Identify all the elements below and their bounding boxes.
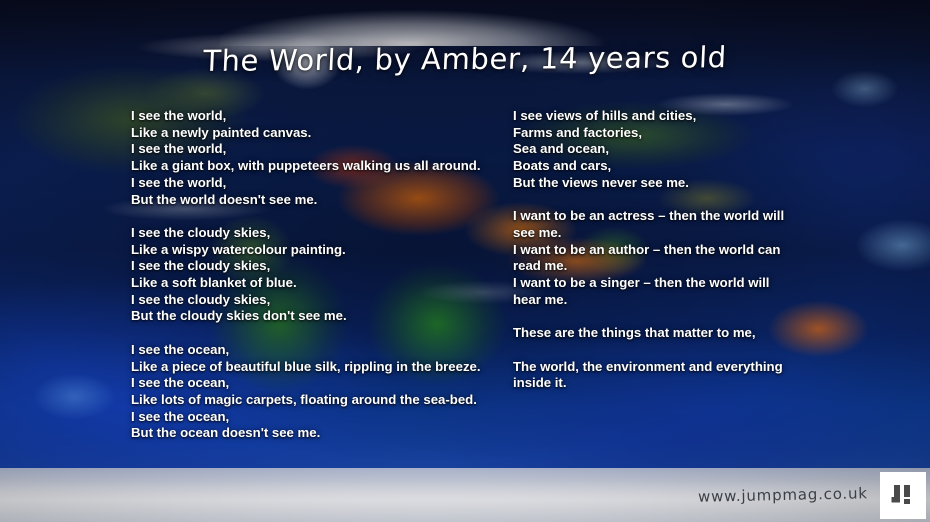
poem-line: Sea and ocean, [513,141,795,158]
poem-line: Farms and factories, [513,125,795,142]
poem-line: Like lots of magic carpets, floating aro… [131,392,501,409]
poem-stanza: I see the ocean,Like a piece of beautifu… [131,342,501,442]
poem-stanza: I see the world,Like a newly painted can… [131,108,501,208]
poem-line: I want to be an author – then the world … [513,242,795,275]
poem-line: Like a piece of beautiful blue silk, rip… [131,359,501,376]
poem-line: I see the ocean, [131,375,501,392]
page-title: The World, by Amber, 14 years old [0,39,930,79]
site-url-text[interactable]: www.jumpmag.co.uk [698,484,868,506]
poem-line: But the views never see me. [513,175,795,192]
poem-line: Like a giant box, with puppeteers walkin… [131,158,501,175]
poem-line: But the cloudy skies don't see me. [131,308,501,325]
poem-line: But the world doesn't see me. [131,192,501,209]
poem-line: These are the things that matter to me, [513,325,795,342]
poem-left-column: I see the world,Like a newly painted can… [131,108,501,442]
poem-line: I see the ocean, [131,342,501,359]
poem-stanza: These are the things that matter to me, [513,325,795,342]
slide-content: The World, by Amber, 14 years old I see … [0,0,930,522]
poem-line: The world, the environment and everythin… [513,359,795,392]
poem-slide: The World, by Amber, 14 years old I see … [0,0,930,522]
poem-line: I see the cloudy skies, [131,292,501,309]
poem-line: Like a newly painted canvas. [131,125,501,142]
poem-line: I see the cloudy skies, [131,258,501,275]
poem-line: I see the world, [131,175,501,192]
poem-line: I want to be a singer – then the world w… [513,275,795,308]
poem-line: I see the ocean, [131,409,501,426]
poem-line: Boats and cars, [513,158,795,175]
poem-line: I want to be an actress – then the world… [513,208,795,241]
poem-stanza: The world, the environment and everythin… [513,359,795,392]
poem-stanza: I see the cloudy skies,Like a wispy wate… [131,225,501,325]
poem-line: I see the cloudy skies, [131,225,501,242]
jumpmag-logo[interactable] [880,472,926,519]
poem-right-column: I see views of hills and cities,Farms an… [513,108,795,392]
j-exclamation-icon [890,483,916,509]
poem-line: I see the world, [131,108,501,125]
poem-line: I see the world, [131,141,501,158]
poem-stanza: I want to be an actress – then the world… [513,208,795,308]
poem-line: I see views of hills and cities, [513,108,795,125]
poem-line: But the ocean doesn't see me. [131,425,501,442]
poem-line: Like a soft blanket of blue. [131,275,501,292]
poem-line: Like a wispy watercolour painting. [131,242,501,259]
poem-stanza: I see views of hills and cities,Farms an… [513,108,795,192]
